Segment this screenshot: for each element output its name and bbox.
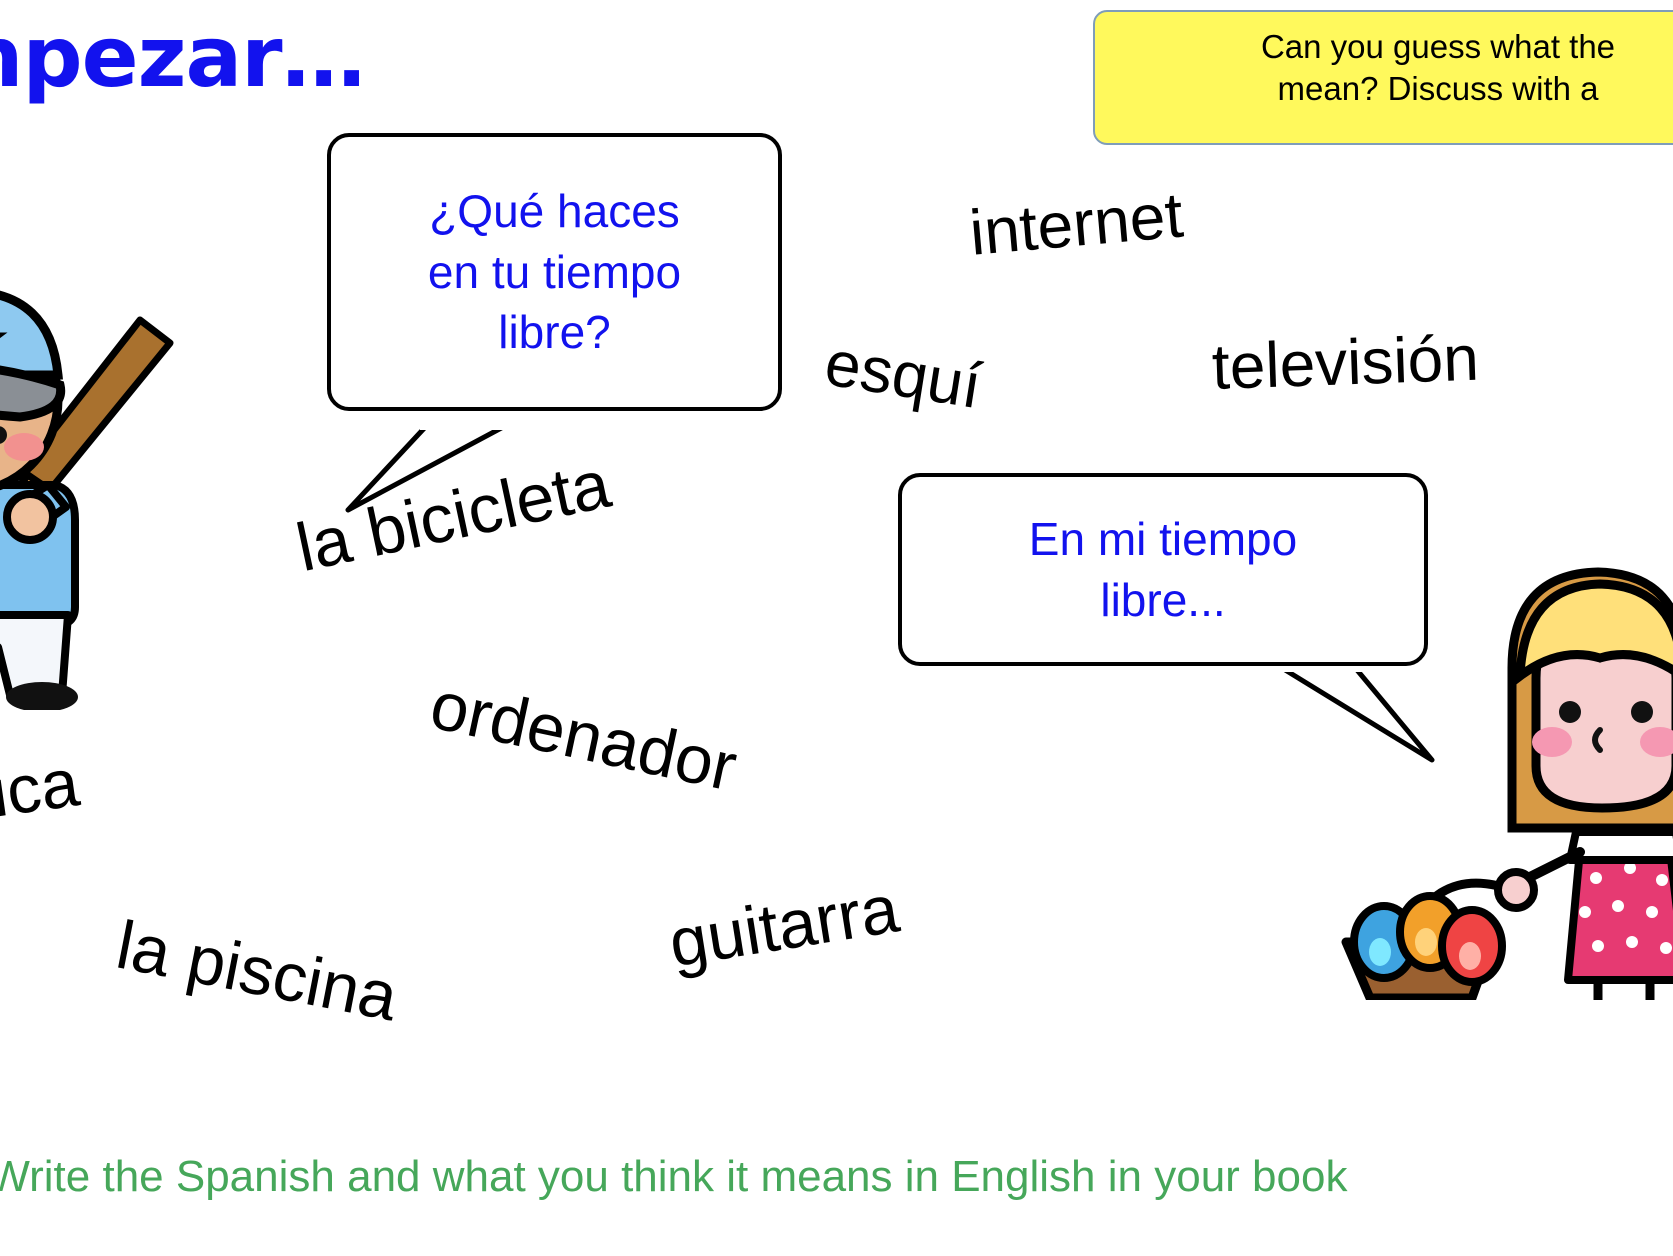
word-musica: ica xyxy=(0,743,84,832)
word-television: televisión xyxy=(1211,321,1480,404)
word-la-piscina: la piscina xyxy=(111,906,404,1037)
speech-bubble-answer: En mi tiempo libre... xyxy=(898,473,1428,666)
challenge-text: ge: Write the Spanish and what you think… xyxy=(0,1152,1673,1202)
word-guitarra: guitarra xyxy=(664,869,904,982)
word-ordenador: ordenador xyxy=(424,666,743,807)
speech-bubble-answer-line-2: libre... xyxy=(1029,570,1297,631)
word-esqui: esquí xyxy=(820,325,986,423)
instruction-note: Can you guess what the mean? Discuss wit… xyxy=(1093,10,1673,145)
word-internet: internet xyxy=(967,178,1186,270)
instruction-note-line-2: mean? Discuss with a xyxy=(1117,68,1673,110)
speech-bubble-question: ¿Qué haces en tu tiempo libre? xyxy=(327,133,782,411)
boy-illustration xyxy=(0,235,200,710)
speech-bubble-answer-line-1: En mi tiempo xyxy=(1029,509,1297,570)
instruction-note-line-1: Can you guess what the xyxy=(1117,26,1673,68)
boy-clipart xyxy=(0,235,200,710)
speech-bubble-question-line-1: ¿Qué haces xyxy=(428,181,681,242)
speech-bubble-question-line-3: libre? xyxy=(428,302,681,363)
slide-canvas: empezar… Can you guess what the mean? Di… xyxy=(0,0,1673,1256)
speech-bubble-question-line-2: en tu tiempo xyxy=(428,242,681,303)
page-title: empezar… xyxy=(0,8,365,106)
